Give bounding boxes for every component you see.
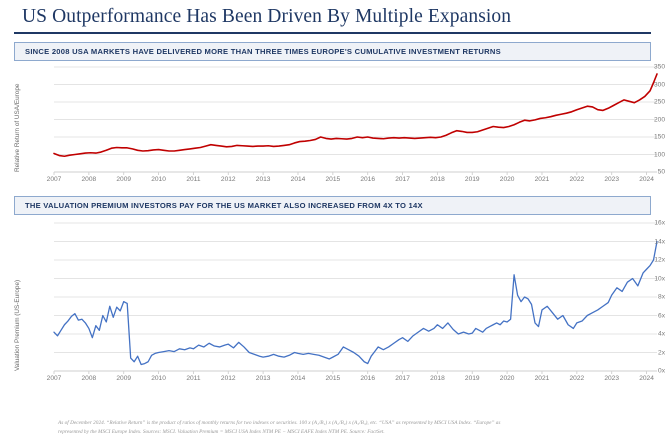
y-axis-tick-label: 100 (616, 151, 665, 158)
y-axis-tick-label: 350 (616, 64, 665, 71)
x-axis-tick-label: 2020 (500, 375, 515, 382)
x-axis-tick-label: 2020 (500, 176, 515, 183)
x-axis-tick-label: 2013 (256, 176, 271, 183)
x-axis-tick-label: 2017 (395, 375, 410, 382)
x-axis-tick-label: 2011 (186, 176, 200, 183)
plot1-svg (0, 63, 665, 186)
footnote-line-2: represented by the MSCI Europe Index. So… (58, 428, 658, 437)
chart-1-plot-area: 5010015020025030035020072008200920102011… (0, 63, 665, 186)
y-axis-tick-label: 2x (616, 349, 665, 356)
x-axis-tick-label: 2023 (604, 375, 619, 382)
x-axis-tick-label: 2019 (465, 176, 480, 183)
x-axis-tick-label: 2008 (82, 176, 97, 183)
x-axis-tick-label: 2019 (465, 375, 480, 382)
x-axis-tick-label: 2018 (430, 375, 445, 382)
y-axis-tick-label: 8x (616, 294, 665, 301)
banner-chart-1: SINCE 2008 USA MARKETS HAVE DELIVERED MO… (14, 42, 651, 61)
banner-chart-2: THE VALUATION PREMIUM INVESTORS PAY FOR … (14, 196, 651, 215)
x-axis-tick-label: 2017 (395, 176, 410, 183)
footnote: As of December 2024. “Relative Return” i… (58, 419, 658, 438)
title-divider (14, 32, 651, 34)
x-axis-tick-label: 2021 (535, 375, 550, 382)
y-axis-tick-label: 6x (616, 312, 665, 319)
y-axis-title: Relative Return of USA/Europe (14, 84, 21, 172)
x-axis-tick-label: 2022 (569, 375, 584, 382)
page-title: US Outperformance Has Been Driven By Mul… (0, 0, 665, 28)
chart-relative-return: 5010015020025030035020072008200920102011… (0, 63, 665, 186)
x-axis-tick-label: 2012 (221, 176, 236, 183)
y-axis-tick-label: 300 (616, 81, 665, 88)
x-axis-tick-label: 2008 (82, 375, 97, 382)
x-axis-tick-label: 2022 (569, 176, 584, 183)
series-line (54, 74, 657, 156)
banner-chart-2-label: THE VALUATION PREMIUM INVESTORS PAY FOR … (25, 201, 423, 210)
y-axis-tick-label: 250 (616, 99, 665, 106)
y-axis-tick-label: 0x (616, 368, 665, 375)
x-axis-tick-label: 2007 (47, 176, 62, 183)
x-axis-tick-label: 2007 (47, 375, 62, 382)
banner-chart-1-label: SINCE 2008 USA MARKETS HAVE DELIVERED MO… (25, 47, 501, 56)
x-axis-tick-label: 2015 (326, 375, 341, 382)
x-axis-tick-label: 2024 (639, 176, 654, 183)
y-axis-tick-label: 4x (616, 331, 665, 338)
x-axis-tick-label: 2016 (360, 176, 375, 183)
x-axis-tick-label: 2023 (604, 176, 619, 183)
x-axis-tick-label: 2024 (639, 375, 654, 382)
y-axis-tick-label: 50 (616, 169, 665, 176)
y-axis-tick-label: 12x (616, 257, 665, 264)
chart-valuation-premium: 0x2x4x6x8x10x12x14x16x200720082009201020… (0, 217, 665, 385)
footnote-line-1: As of December 2024. “Relative Return” i… (58, 419, 658, 428)
x-axis-tick-label: 2015 (326, 176, 341, 183)
x-axis-tick-label: 2009 (116, 176, 131, 183)
y-axis-tick-label: 10x (616, 275, 665, 282)
x-axis-tick-label: 2013 (256, 375, 271, 382)
x-axis-tick-label: 2014 (291, 375, 306, 382)
x-axis-tick-label: 2010 (151, 375, 166, 382)
y-axis-tick-label: 200 (616, 116, 665, 123)
plot2-svg (0, 217, 665, 385)
x-axis-tick-label: 2016 (360, 375, 375, 382)
y-axis-tick-label: 16x (616, 220, 665, 227)
x-axis-tick-label: 2014 (291, 176, 306, 183)
x-axis-tick-label: 2011 (186, 375, 200, 382)
x-axis-tick-label: 2018 (430, 176, 445, 183)
x-axis-tick-label: 2021 (535, 176, 550, 183)
y-axis-tick-label: 14x (616, 238, 665, 245)
y-axis-tick-label: 150 (616, 134, 665, 141)
x-axis-tick-label: 2010 (151, 176, 166, 183)
x-axis-tick-label: 2012 (221, 375, 236, 382)
x-axis-tick-label: 2009 (116, 375, 131, 382)
chart-2-plot-area: 0x2x4x6x8x10x12x14x16x200720082009201020… (0, 217, 665, 385)
y-axis-title: Valuation Premium (US-Europe) (14, 280, 21, 371)
